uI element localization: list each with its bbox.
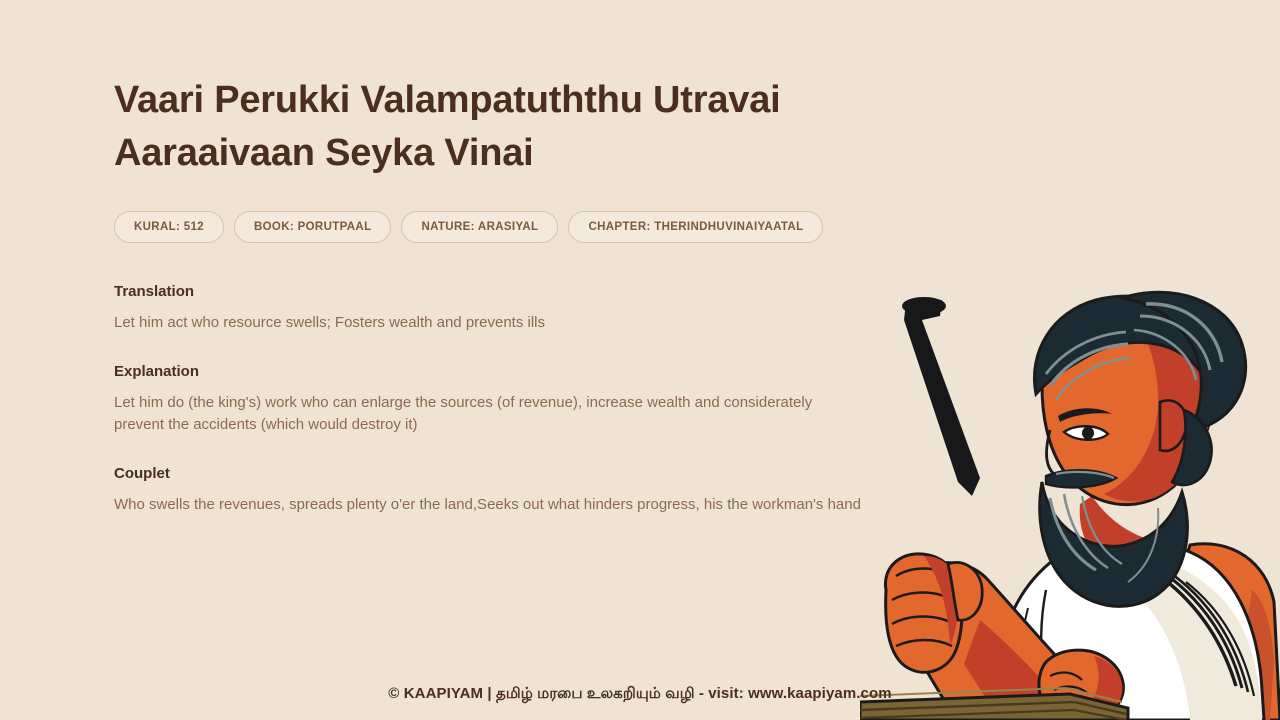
translation-heading: Translation — [114, 283, 904, 301]
footer-credit: © KAAPIYAM | தமிழ் மரபை உலகறியும் வழி - … — [0, 685, 1280, 704]
kural-card: Vaari Perukki Valampatuththu Utravai Aar… — [0, 0, 1280, 720]
section-translation: Translation Let him act who resource swe… — [114, 283, 904, 334]
section-couplet: Couplet Who swells the revenues, spreads… — [114, 465, 904, 516]
metadata-badge-row: KURAL: 512 BOOK: PORUTPAAL NATURE: ARASI… — [114, 211, 904, 243]
translation-body: Let him act who resource swells; Fosters… — [114, 312, 864, 334]
couplet-body: Who swells the revenues, spreads plenty … — [114, 494, 864, 516]
kural-content: Vaari Perukki Valampatuththu Utravai Aar… — [114, 74, 904, 516]
section-explanation: Explanation Let him do (the king's) work… — [114, 363, 904, 436]
badge-nature: NATURE: ARASIYAL — [401, 211, 558, 243]
sections-container: Translation Let him act who resource swe… — [114, 283, 904, 516]
page-title: Vaari Perukki Valampatuththu Utravai Aar… — [114, 74, 814, 180]
couplet-heading: Couplet — [114, 465, 904, 483]
explanation-body: Let him do (the king's) work who can enl… — [114, 392, 864, 436]
explanation-heading: Explanation — [114, 363, 904, 381]
badge-kural: KURAL: 512 — [114, 211, 224, 243]
badge-chapter: CHAPTER: THERINDHUVINAIYAATAL — [568, 211, 823, 243]
badge-book: BOOK: PORUTPAAL — [234, 211, 391, 243]
thiruvalluvar-writing-illustration — [860, 290, 1280, 720]
